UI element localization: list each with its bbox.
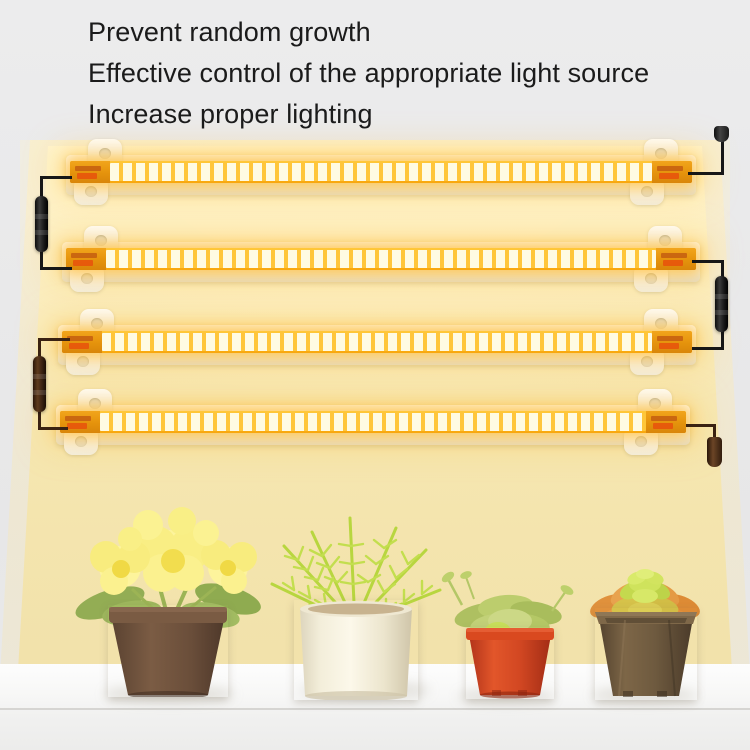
link-cable — [40, 176, 72, 179]
led-diodes — [106, 250, 656, 268]
plant-small-leafy — [440, 565, 580, 695]
driver-chip — [652, 161, 692, 183]
connector-band — [715, 310, 728, 315]
connector-band — [33, 390, 46, 395]
plant-fern — [250, 498, 460, 698]
led-bar-1 — [66, 145, 696, 207]
output-cable — [686, 424, 716, 427]
driver-chip — [646, 411, 686, 433]
led-strip — [70, 161, 692, 183]
led-diodes — [100, 413, 646, 431]
connector-band — [715, 294, 728, 299]
link-cable — [40, 267, 72, 270]
headline-line-3: Increase proper lighting — [88, 94, 748, 135]
barrel-connector — [715, 276, 728, 332]
barrel-connector — [33, 356, 46, 412]
driver-chip — [656, 248, 696, 270]
flower-pot — [108, 605, 228, 697]
led-diodes — [102, 333, 652, 351]
link-cable — [692, 260, 724, 263]
power-cable — [688, 172, 724, 175]
connector-band — [35, 214, 48, 219]
link-cable — [38, 338, 70, 341]
headline-block: Prevent random growth Effective control … — [88, 12, 748, 135]
table-edge-line — [0, 708, 750, 710]
connector-band — [35, 230, 48, 235]
led-strip — [60, 411, 686, 433]
headline-line-1: Prevent random growth — [88, 12, 748, 53]
led-bar-2 — [62, 232, 700, 294]
led-bar-3 — [58, 315, 696, 377]
output-connector-plug — [707, 437, 722, 467]
led-strip — [66, 248, 696, 270]
driver-chip — [66, 248, 106, 270]
plant-yellow-flowers — [70, 495, 270, 695]
headline-line-2: Effective control of the appropriate lig… — [88, 53, 748, 94]
driver-chip — [70, 161, 110, 183]
product-image-scene: Prevent random growth Effective control … — [0, 0, 750, 750]
plant-succulent — [575, 548, 715, 698]
led-bar-4 — [56, 395, 690, 457]
link-cable — [692, 347, 724, 350]
square-pot — [595, 608, 697, 700]
link-cable — [38, 427, 68, 430]
connector-band — [33, 374, 46, 379]
led-diodes — [110, 163, 652, 181]
led-strip — [62, 331, 692, 353]
ceramic-pot — [294, 600, 418, 700]
driver-chip — [652, 331, 692, 353]
terracotta-pot — [466, 627, 554, 699]
driver-chip — [62, 331, 102, 353]
barrel-connector — [35, 196, 48, 252]
